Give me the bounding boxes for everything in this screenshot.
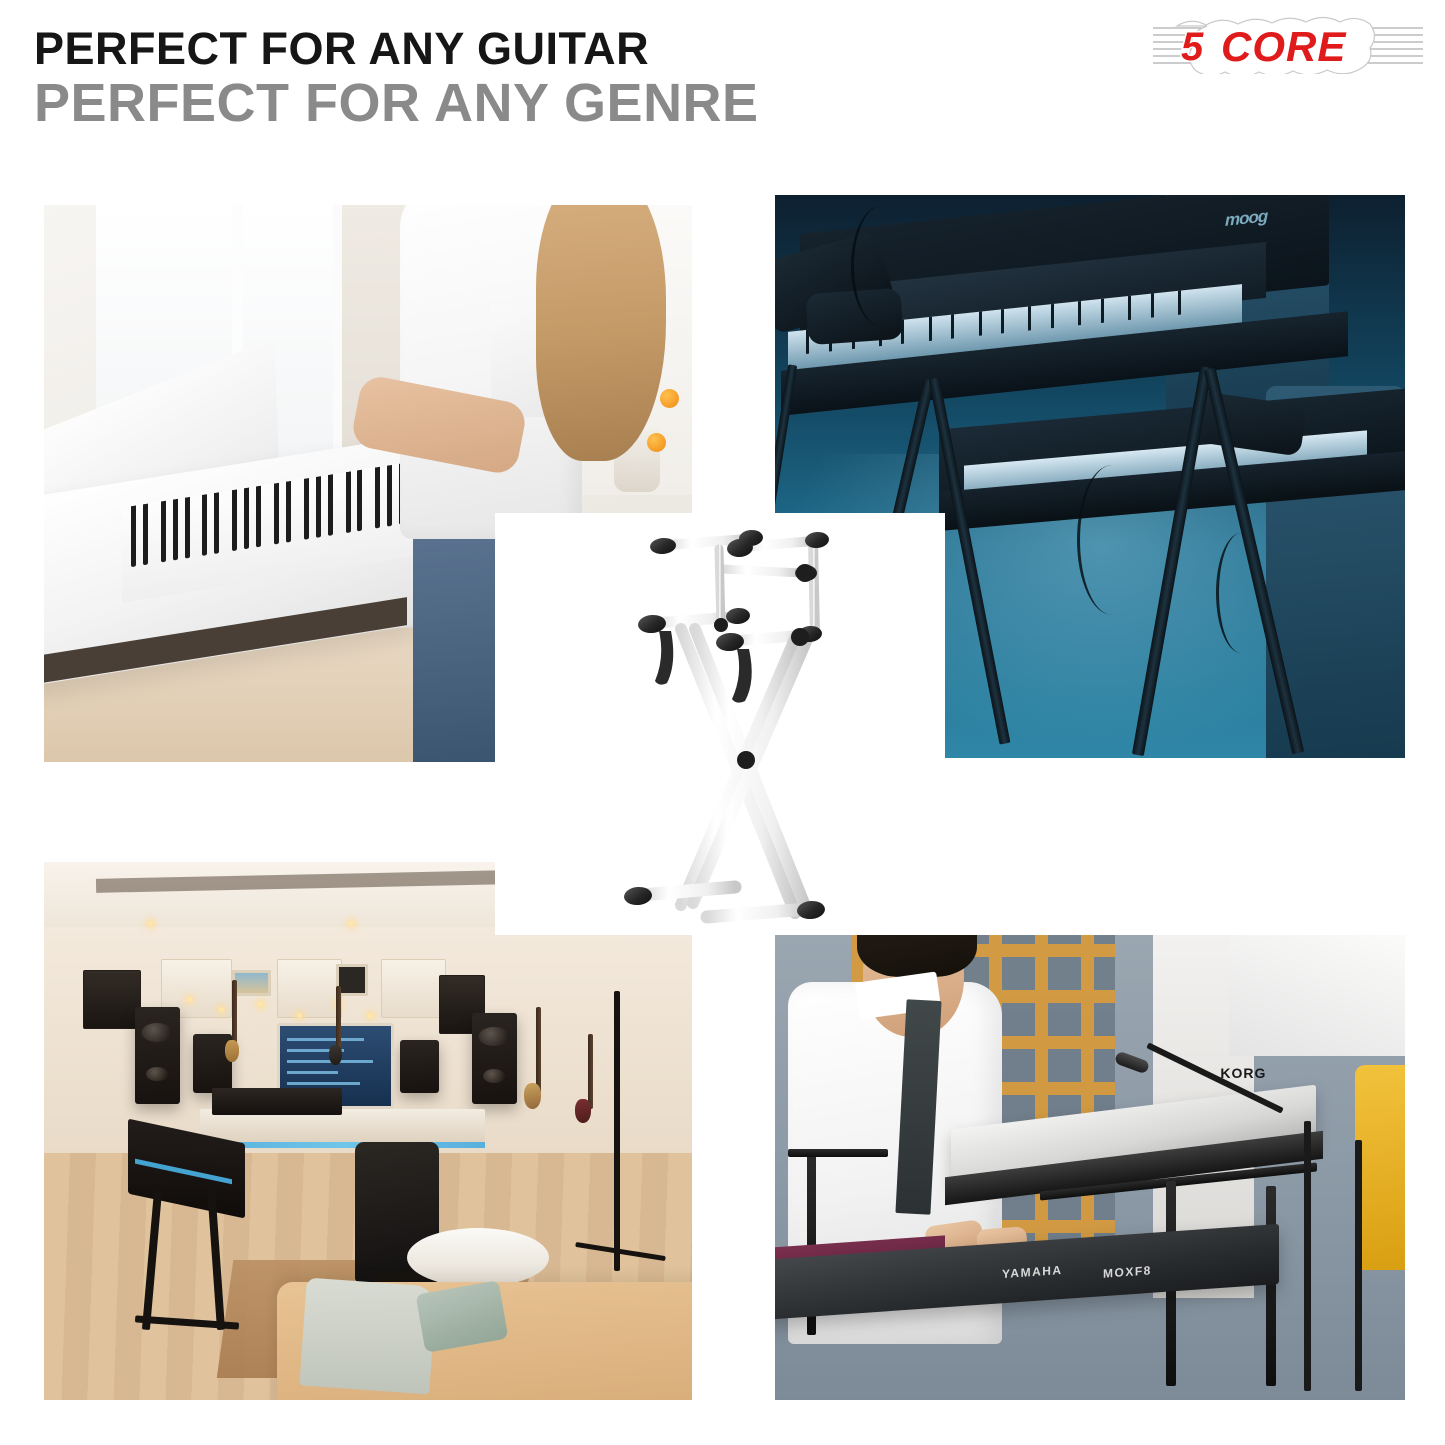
panel-home-studio [44,862,692,1400]
player-hair [536,205,666,461]
korg-brand-text: KORG [1220,1065,1266,1081]
keyboard-stand-column [1266,1186,1276,1386]
guitar-body [329,1045,342,1065]
bandmate-yellow-shirt [1355,1065,1405,1270]
svg-text:CORE: CORE [1221,23,1347,70]
acoustic-panel [381,959,446,1018]
mixing-console [212,1088,342,1115]
svg-text:5: 5 [1181,25,1204,69]
mic-stand-pole [1304,1121,1311,1391]
guitar-neck [588,1034,593,1109]
headline-block: PERFECT FOR ANY GUITAR PERFECT FOR ANY G… [34,26,1124,131]
band-player-scene: KORG YAMAHA MOXF8 [775,935,1405,1400]
guitar-body [225,1040,239,1062]
guitar-body [575,1099,591,1123]
panel-band-player: KORG YAMAHA MOXF8 [775,935,1405,1400]
mic-stand [614,991,620,1271]
coffee-table [407,1228,550,1287]
studio-monitor [135,1007,180,1104]
keyboardist-hair [857,935,977,977]
guitar-neck [536,1007,541,1093]
home-studio-scene [44,862,692,1400]
mic-stand-pole [1355,1140,1362,1391]
guitar-body [524,1083,541,1109]
headline-line-primary: PERFECT FOR ANY GUITAR [34,26,1124,72]
marketing-collage-page: PERFECT FOR ANY GUITAR PERFECT FOR ANY G… [0,0,1445,1445]
guitar-neck [336,986,341,1051]
wall-art [232,970,271,997]
guitar-neck [232,980,237,1045]
throw-blanket [300,1277,437,1393]
product-keyboard-stand [495,513,945,935]
headline-line-secondary: PERFECT FOR ANY GENRE [34,76,1124,131]
acoustic-panel [277,959,342,1018]
five-core-logo: 5 CORE [1149,16,1427,74]
studio-monitor [472,1013,517,1104]
